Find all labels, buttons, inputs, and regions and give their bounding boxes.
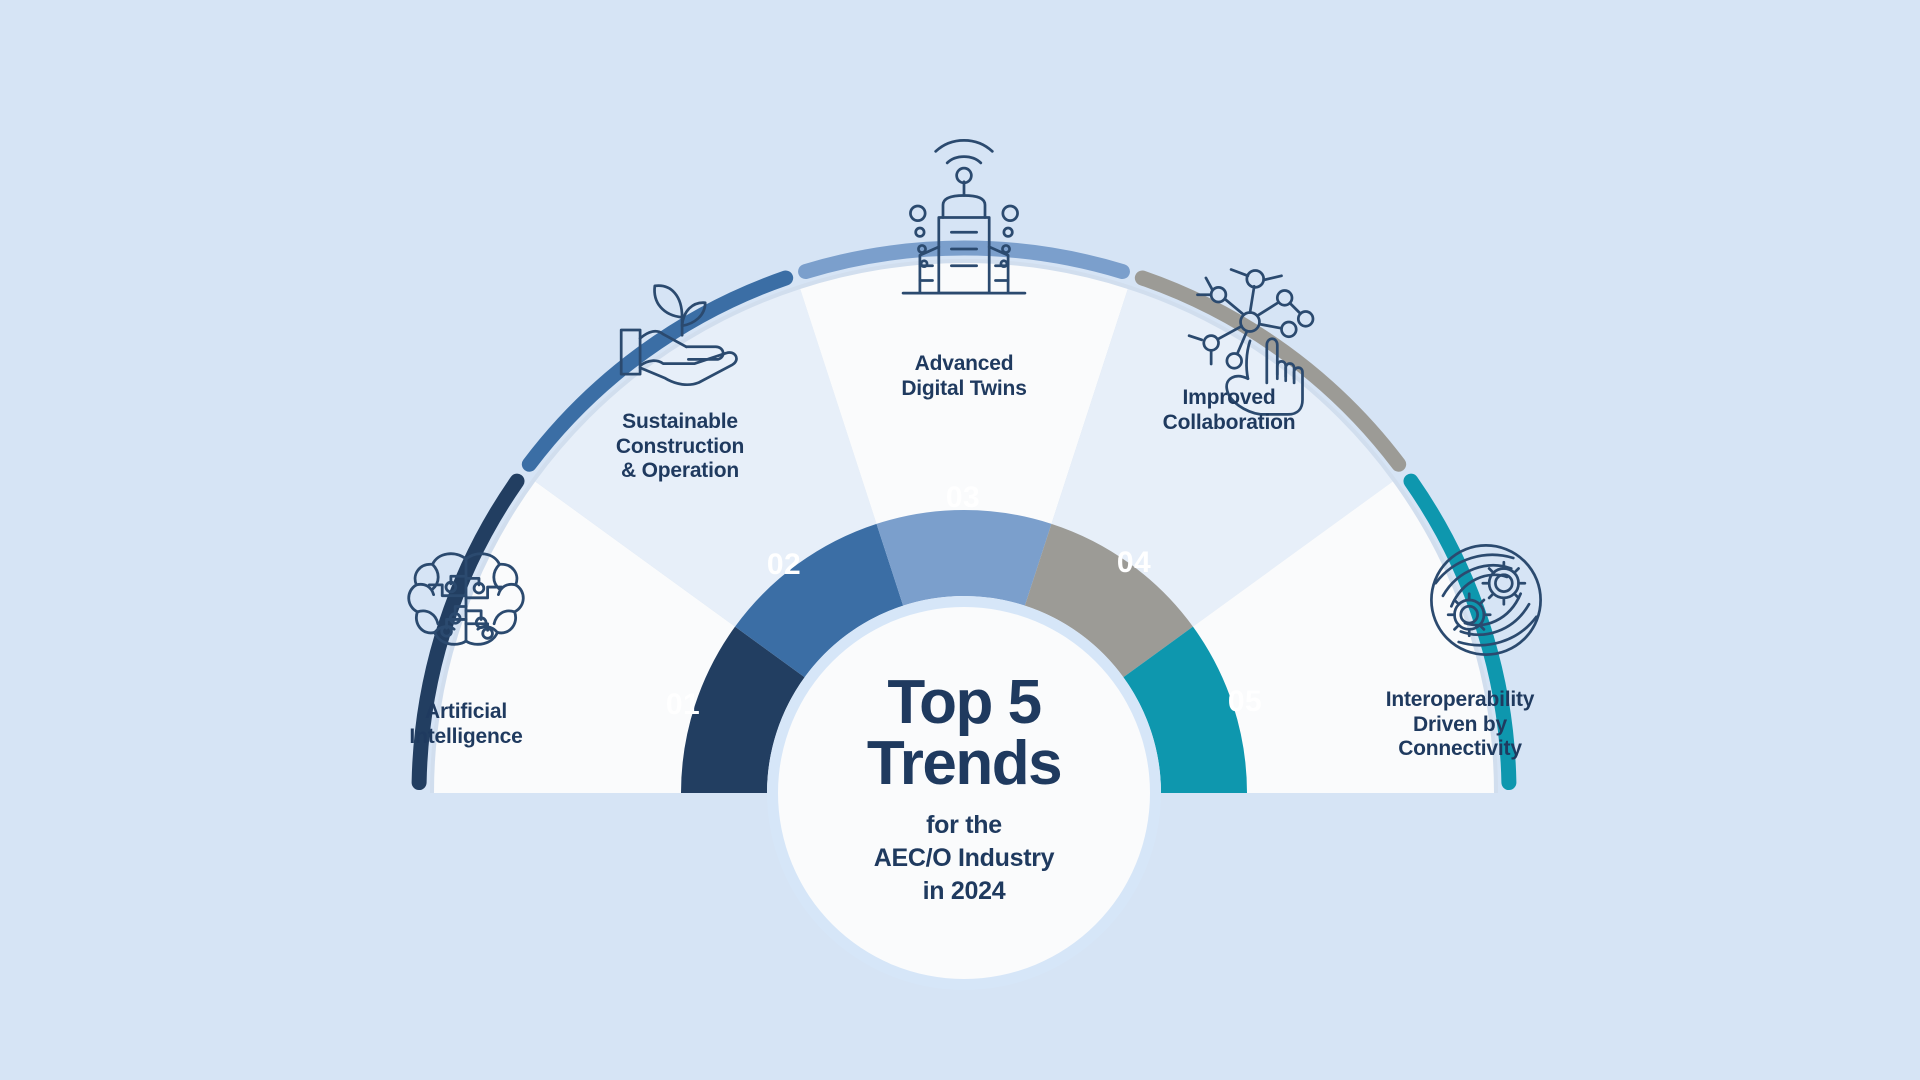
center-title: Top 5 Trends bbox=[799, 672, 1129, 795]
ring-number-01: 01 bbox=[666, 688, 700, 722]
ring-number-02: 02 bbox=[767, 548, 801, 582]
wedge-label-01: Artificial Intelligence bbox=[409, 700, 522, 749]
center-subtitle: for the AEC/O Industry in 2024 bbox=[799, 809, 1129, 909]
wedge-label-05: Interoperability Driven by Connectivity bbox=[1386, 688, 1535, 762]
center-text-block: Top 5 Trends for the AEC/O Industry in 2… bbox=[799, 672, 1129, 909]
wedge-label-03: Advanced Digital Twins bbox=[901, 352, 1026, 401]
ring-number-04: 04 bbox=[1117, 546, 1151, 580]
center-title-line1: Top 5 bbox=[799, 672, 1129, 733]
infographic-canvas: Artificial Intelligence Sustainable Cons… bbox=[0, 0, 1920, 1080]
ring-number-05: 05 bbox=[1228, 685, 1262, 719]
ring-number-03: 03 bbox=[946, 481, 980, 515]
semicircle-fan-chart bbox=[0, 0, 1920, 1080]
center-title-line2: Trends bbox=[799, 733, 1129, 794]
wedge-label-04: Improved Collaboration bbox=[1163, 386, 1296, 435]
wedge-label-02: Sustainable Construction & Operation bbox=[616, 410, 744, 484]
inner-ring-03[interactable] bbox=[877, 510, 1052, 606]
